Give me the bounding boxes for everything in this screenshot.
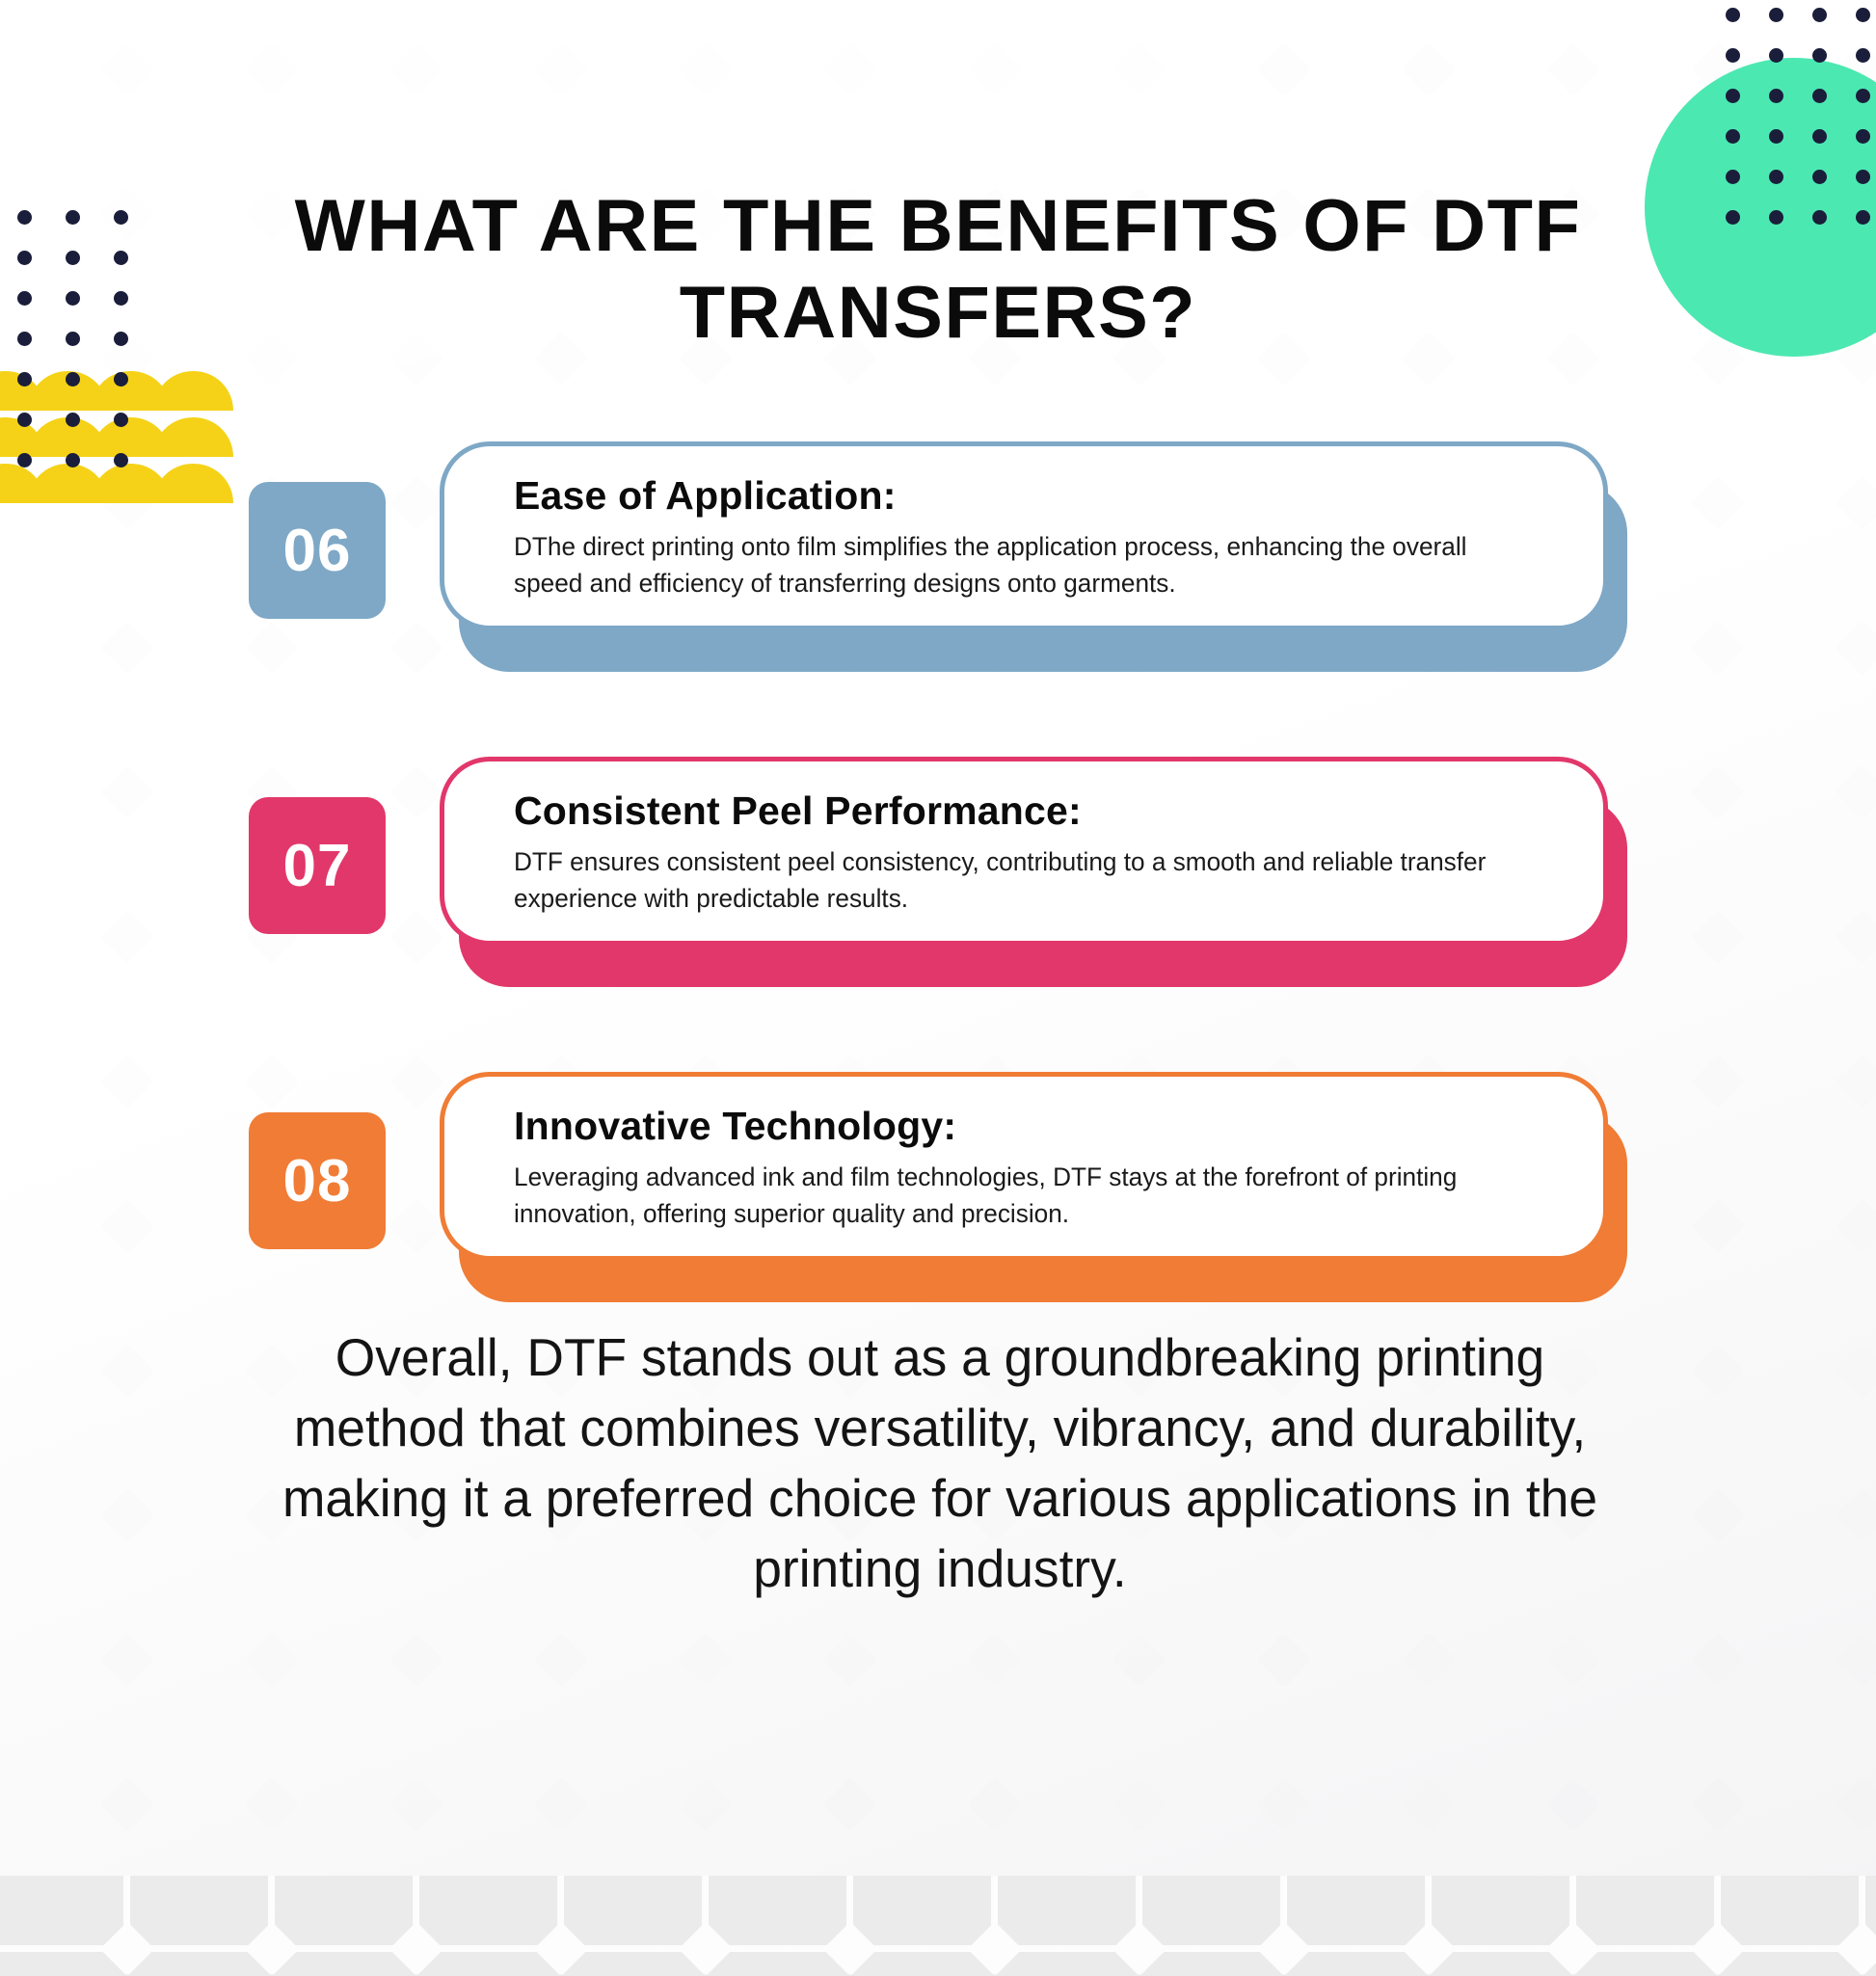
card-number-badge-07: 07	[249, 797, 386, 934]
navy-dot-grid-left-icon	[17, 210, 152, 480]
card-title-07: Consistent Peel Performance:	[514, 788, 1547, 834]
summary-paragraph: Overall, DTF stands out as a groundbreak…	[262, 1322, 1619, 1605]
card-title-06: Ease of Application:	[514, 473, 1547, 519]
card-body-06: Ease of Application: DThe direct printin…	[440, 441, 1608, 630]
benefit-card-06: Ease of Application: DThe direct printin…	[249, 441, 1627, 655]
navy-dot-grid-top-right-icon	[1726, 0, 1876, 222]
card-number-badge-08: 08	[249, 1112, 386, 1249]
card-description-07: DTF ensures consistent peel consistency,…	[514, 843, 1516, 918]
card-number-badge-06: 06	[249, 482, 386, 619]
card-title-08: Innovative Technology:	[514, 1104, 1547, 1149]
benefits-card-list: Ease of Application: DThe direct printin…	[249, 441, 1627, 1286]
card-body-08: Innovative Technology: Leveraging advanc…	[440, 1072, 1608, 1261]
benefit-card-07: Consistent Peel Performance: DTF ensures…	[249, 757, 1627, 971]
card-description-06: DThe direct printing onto film simplifie…	[514, 528, 1516, 602]
page-title: WHAT ARE THE BENEFITS OF DTF TRANSFERS?	[235, 183, 1642, 356]
benefit-card-08: Innovative Technology: Leveraging advanc…	[249, 1072, 1627, 1286]
card-description-08: Leveraging advanced ink and film technol…	[514, 1159, 1516, 1233]
card-body-07: Consistent Peel Performance: DTF ensures…	[440, 757, 1608, 946]
